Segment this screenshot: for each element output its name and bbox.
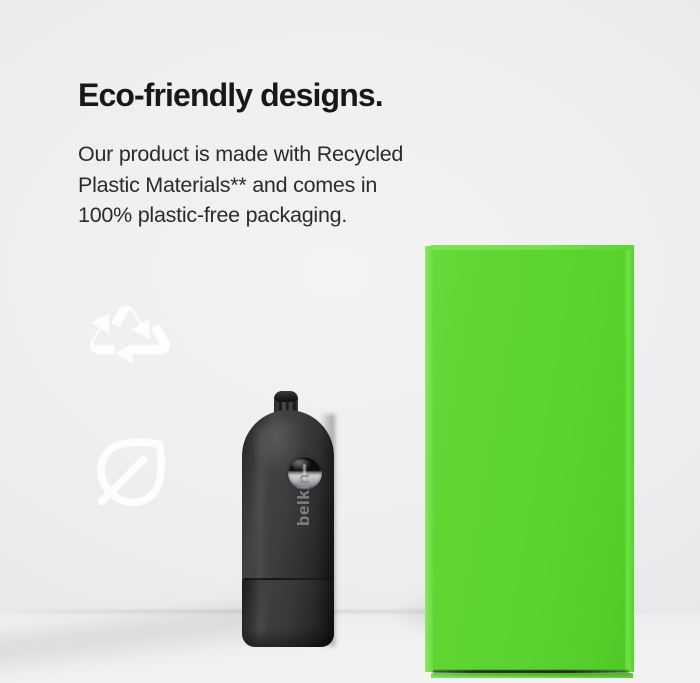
body-copy-line-2: Plastic Materials** and comes in bbox=[78, 170, 508, 201]
charger-specular-highlight bbox=[253, 426, 267, 636]
body-copy-line-1: Our product is made with Recycled bbox=[78, 139, 508, 170]
packaging-box bbox=[425, 245, 633, 683]
charger-edge-shading bbox=[319, 414, 335, 646]
body-copy-line-3: 100% plastic-free packaging. bbox=[78, 200, 508, 231]
page-title: Eco-friendly designs. bbox=[78, 77, 383, 114]
brand-wordmark: belkin bbox=[293, 450, 315, 526]
box-front-face bbox=[431, 245, 627, 672]
product-car-charger: belkin bbox=[241, 392, 335, 647]
body-copy: Our product is made with Recycled Plasti… bbox=[78, 139, 508, 231]
leaf-icon bbox=[80, 423, 180, 523]
charger-tip-cap bbox=[274, 391, 298, 402]
box-left-edge bbox=[425, 246, 433, 672]
box-top-face bbox=[431, 245, 634, 250]
recycle-icon bbox=[82, 288, 174, 380]
box-bottom-rim bbox=[431, 673, 633, 678]
product-marketing-canvas: Eco-friendly designs. Our product is mad… bbox=[0, 0, 700, 683]
box-right-edge bbox=[625, 248, 634, 672]
